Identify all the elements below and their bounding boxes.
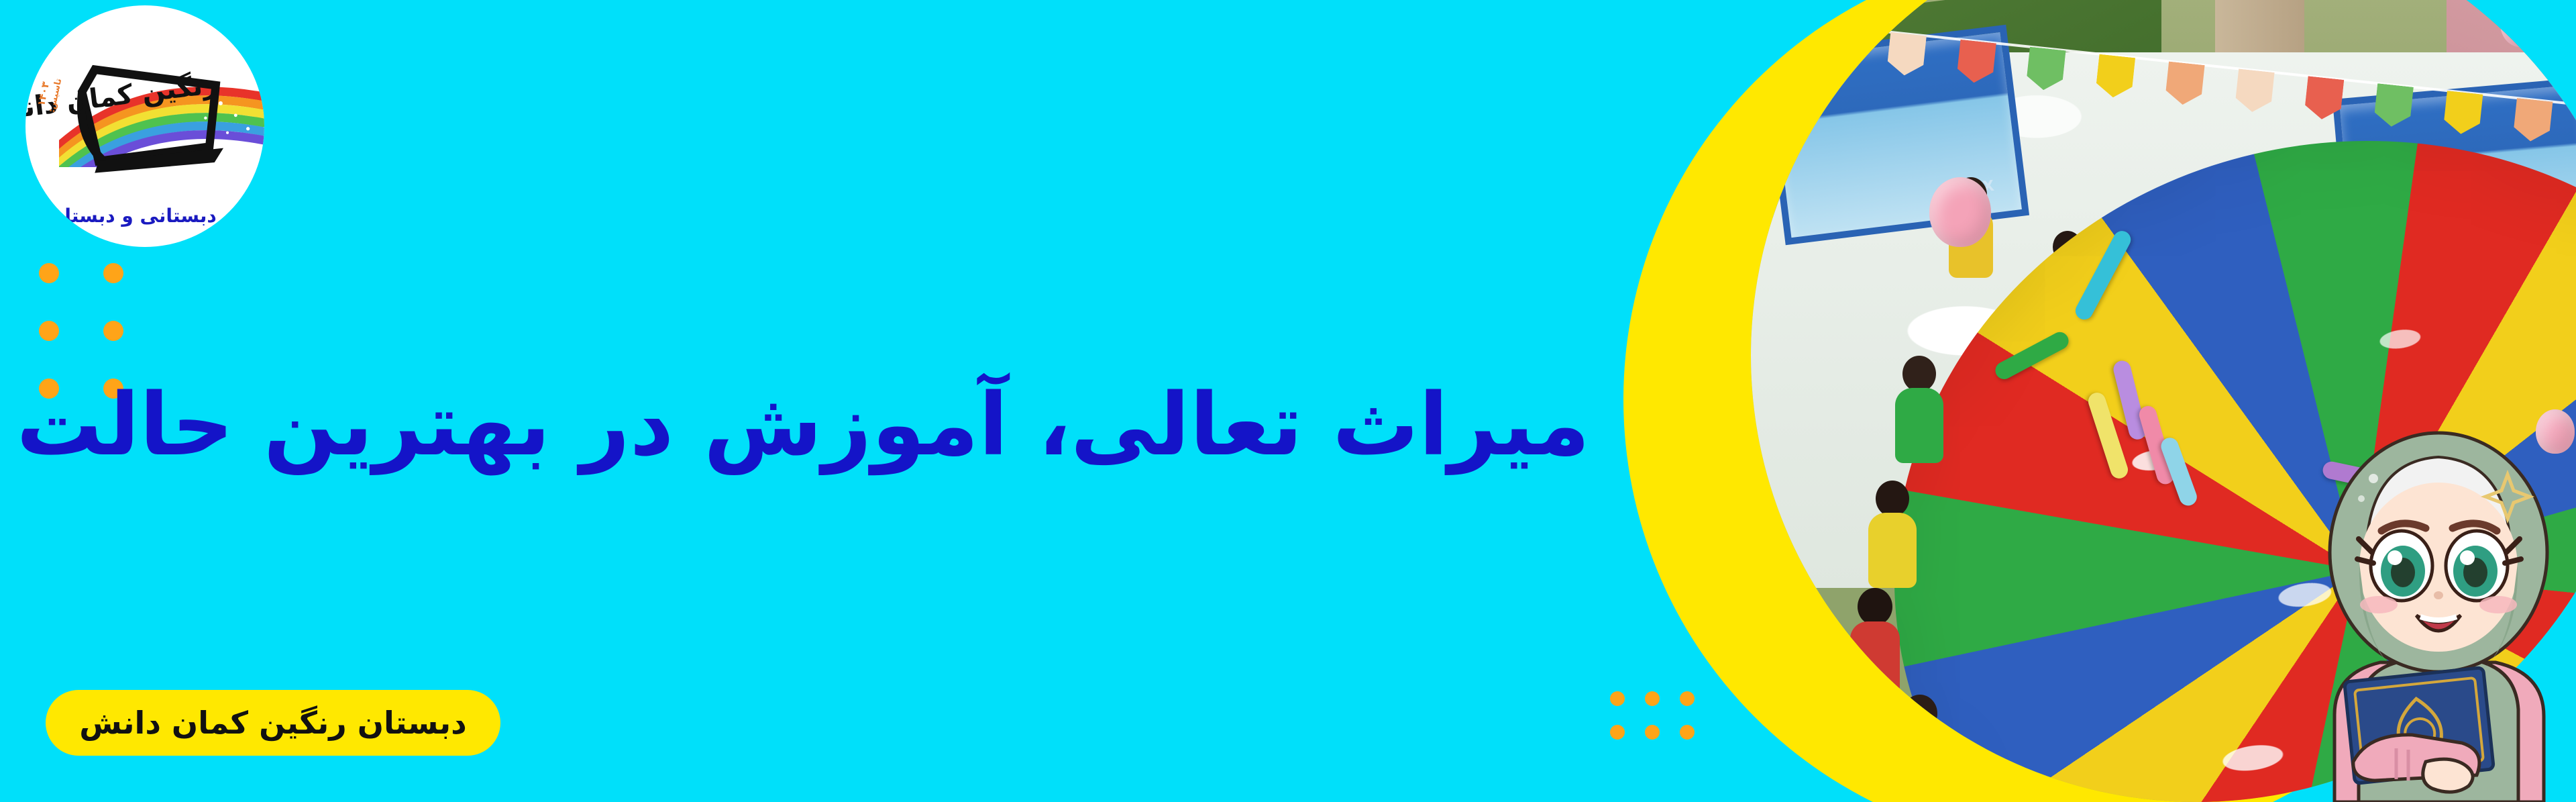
school-logo[interactable]: رنگین کمان دانش ۱۴۰۳ تاسیس: پیش دبستانی …	[25, 5, 264, 247]
girl-hands	[2423, 759, 2473, 792]
bunting-flag	[2164, 62, 2204, 107]
child-body	[1868, 513, 1917, 588]
child-head	[1858, 588, 1892, 625]
decorative-dot	[1680, 725, 1695, 740]
pool-noodle	[1992, 329, 2072, 382]
bunting-flag	[2234, 68, 2274, 113]
girl-blush-left	[2360, 596, 2398, 613]
logo-subtitle: پیش دبستانی و دبستان غیر دولتی دختران	[25, 205, 264, 227]
balloon-pink-small	[2500, 0, 2542, 47]
bunting-flag	[1751, 17, 1787, 62]
bunting-flag	[2443, 91, 2483, 136]
decorative-dot	[39, 263, 59, 283]
girl-nose	[2434, 591, 2443, 599]
child-body	[1850, 621, 1900, 695]
girl-hijab-sparkle	[2358, 495, 2365, 502]
child-head	[1876, 481, 1909, 517]
decorative-dot	[1680, 691, 1695, 706]
girl-hijab-sparkle	[2369, 474, 2378, 483]
school-name-badge[interactable]: دبستان رنگین کمان دانش	[46, 690, 500, 756]
child-figure	[1894, 695, 1946, 795]
decorative-dot	[1610, 725, 1625, 740]
bunting-flag	[2025, 47, 2065, 92]
child-figure	[1894, 356, 1945, 463]
hijab-girl-character	[2294, 399, 2576, 802]
decorative-dot	[1610, 691, 1625, 706]
bunting-flag	[2512, 98, 2553, 143]
bunting-flag	[1886, 32, 1927, 77]
dot-grid-center	[1610, 691, 1695, 740]
bunting-flag	[1955, 40, 1996, 85]
bunting-flag	[1817, 25, 1857, 70]
promo-banner: ت خداوند است INTEX INTEX	[0, 0, 2576, 802]
decorative-dot	[1645, 691, 1660, 706]
decorative-dot	[1645, 725, 1660, 740]
decorative-dot	[103, 263, 123, 283]
child-head	[1902, 695, 1937, 732]
pool-noodle	[2073, 228, 2135, 322]
child-body	[1895, 388, 1943, 463]
page-title: میراث تعالی، آموزش در بهترین حالت خود	[101, 376, 1590, 474]
girl-eye-highlight-left	[2387, 550, 2402, 565]
bunting-flag	[2095, 54, 2135, 99]
bunting-flag	[2373, 83, 2414, 128]
child-figure	[1849, 588, 1901, 695]
decorative-dot	[39, 321, 59, 341]
girl-eye-highlight-right	[2460, 550, 2475, 565]
child-head	[1902, 356, 1936, 392]
logo-calligraphy: رنگین کمان دانش	[93, 70, 226, 167]
child-figure	[1867, 481, 1918, 588]
school-name-badge-label: دبستان رنگین کمان دانش	[79, 705, 467, 741]
girl-blush-right	[2479, 596, 2517, 613]
child-body	[1895, 728, 1945, 795]
balloon-pink-large	[1929, 177, 1991, 247]
decorative-dot	[103, 321, 123, 341]
bunting-flag	[2304, 76, 2344, 121]
